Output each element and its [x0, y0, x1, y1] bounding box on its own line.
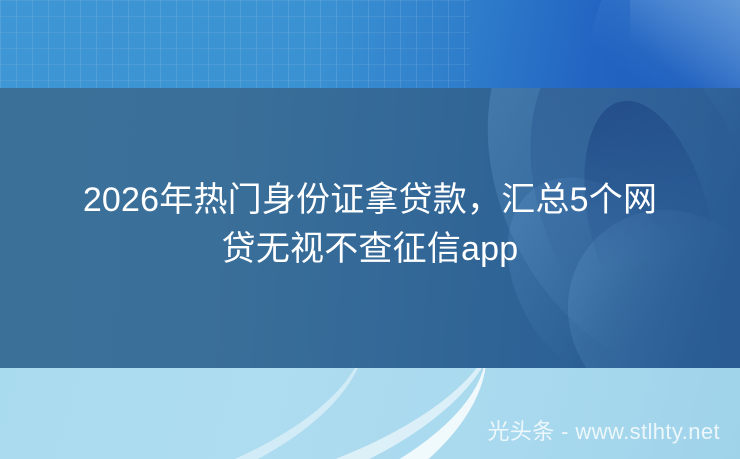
banner-title-line-2: 贷无视不查征信app: [26, 225, 714, 274]
article-banner-image: 2026年热门身份证拿贷款，汇总5个网 贷无视不查征信app 光头条 - www…: [0, 0, 740, 459]
banner-title-line-1: 2026年热门身份证拿贷款，汇总5个网: [26, 176, 714, 225]
banner-bottom-band: [0, 368, 740, 459]
banner-top-band: [0, 0, 740, 88]
top-band-light-wedge-secondary: [630, 0, 740, 88]
grid-texture-overlay: [0, 0, 470, 88]
site-watermark: 光头条 - www.stlhty.net: [487, 419, 720, 445]
banner-title: 2026年热门身份证拿贷款，汇总5个网 贷无视不查征信app: [0, 176, 740, 274]
